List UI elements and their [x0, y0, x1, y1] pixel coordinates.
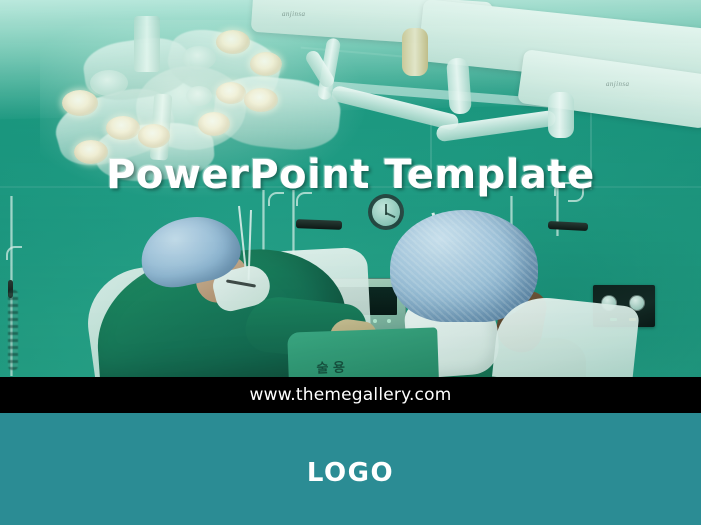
slide-canvas: anjinsa anjinsa: [0, 0, 701, 525]
footer-bar: LOGO: [0, 413, 701, 525]
url-bar: www.themegallery.com: [0, 377, 701, 413]
slide-title: PowerPoint Template: [0, 152, 701, 198]
website-url[interactable]: www.themegallery.com: [250, 385, 452, 405]
logo-placeholder[interactable]: LOGO: [0, 458, 701, 488]
